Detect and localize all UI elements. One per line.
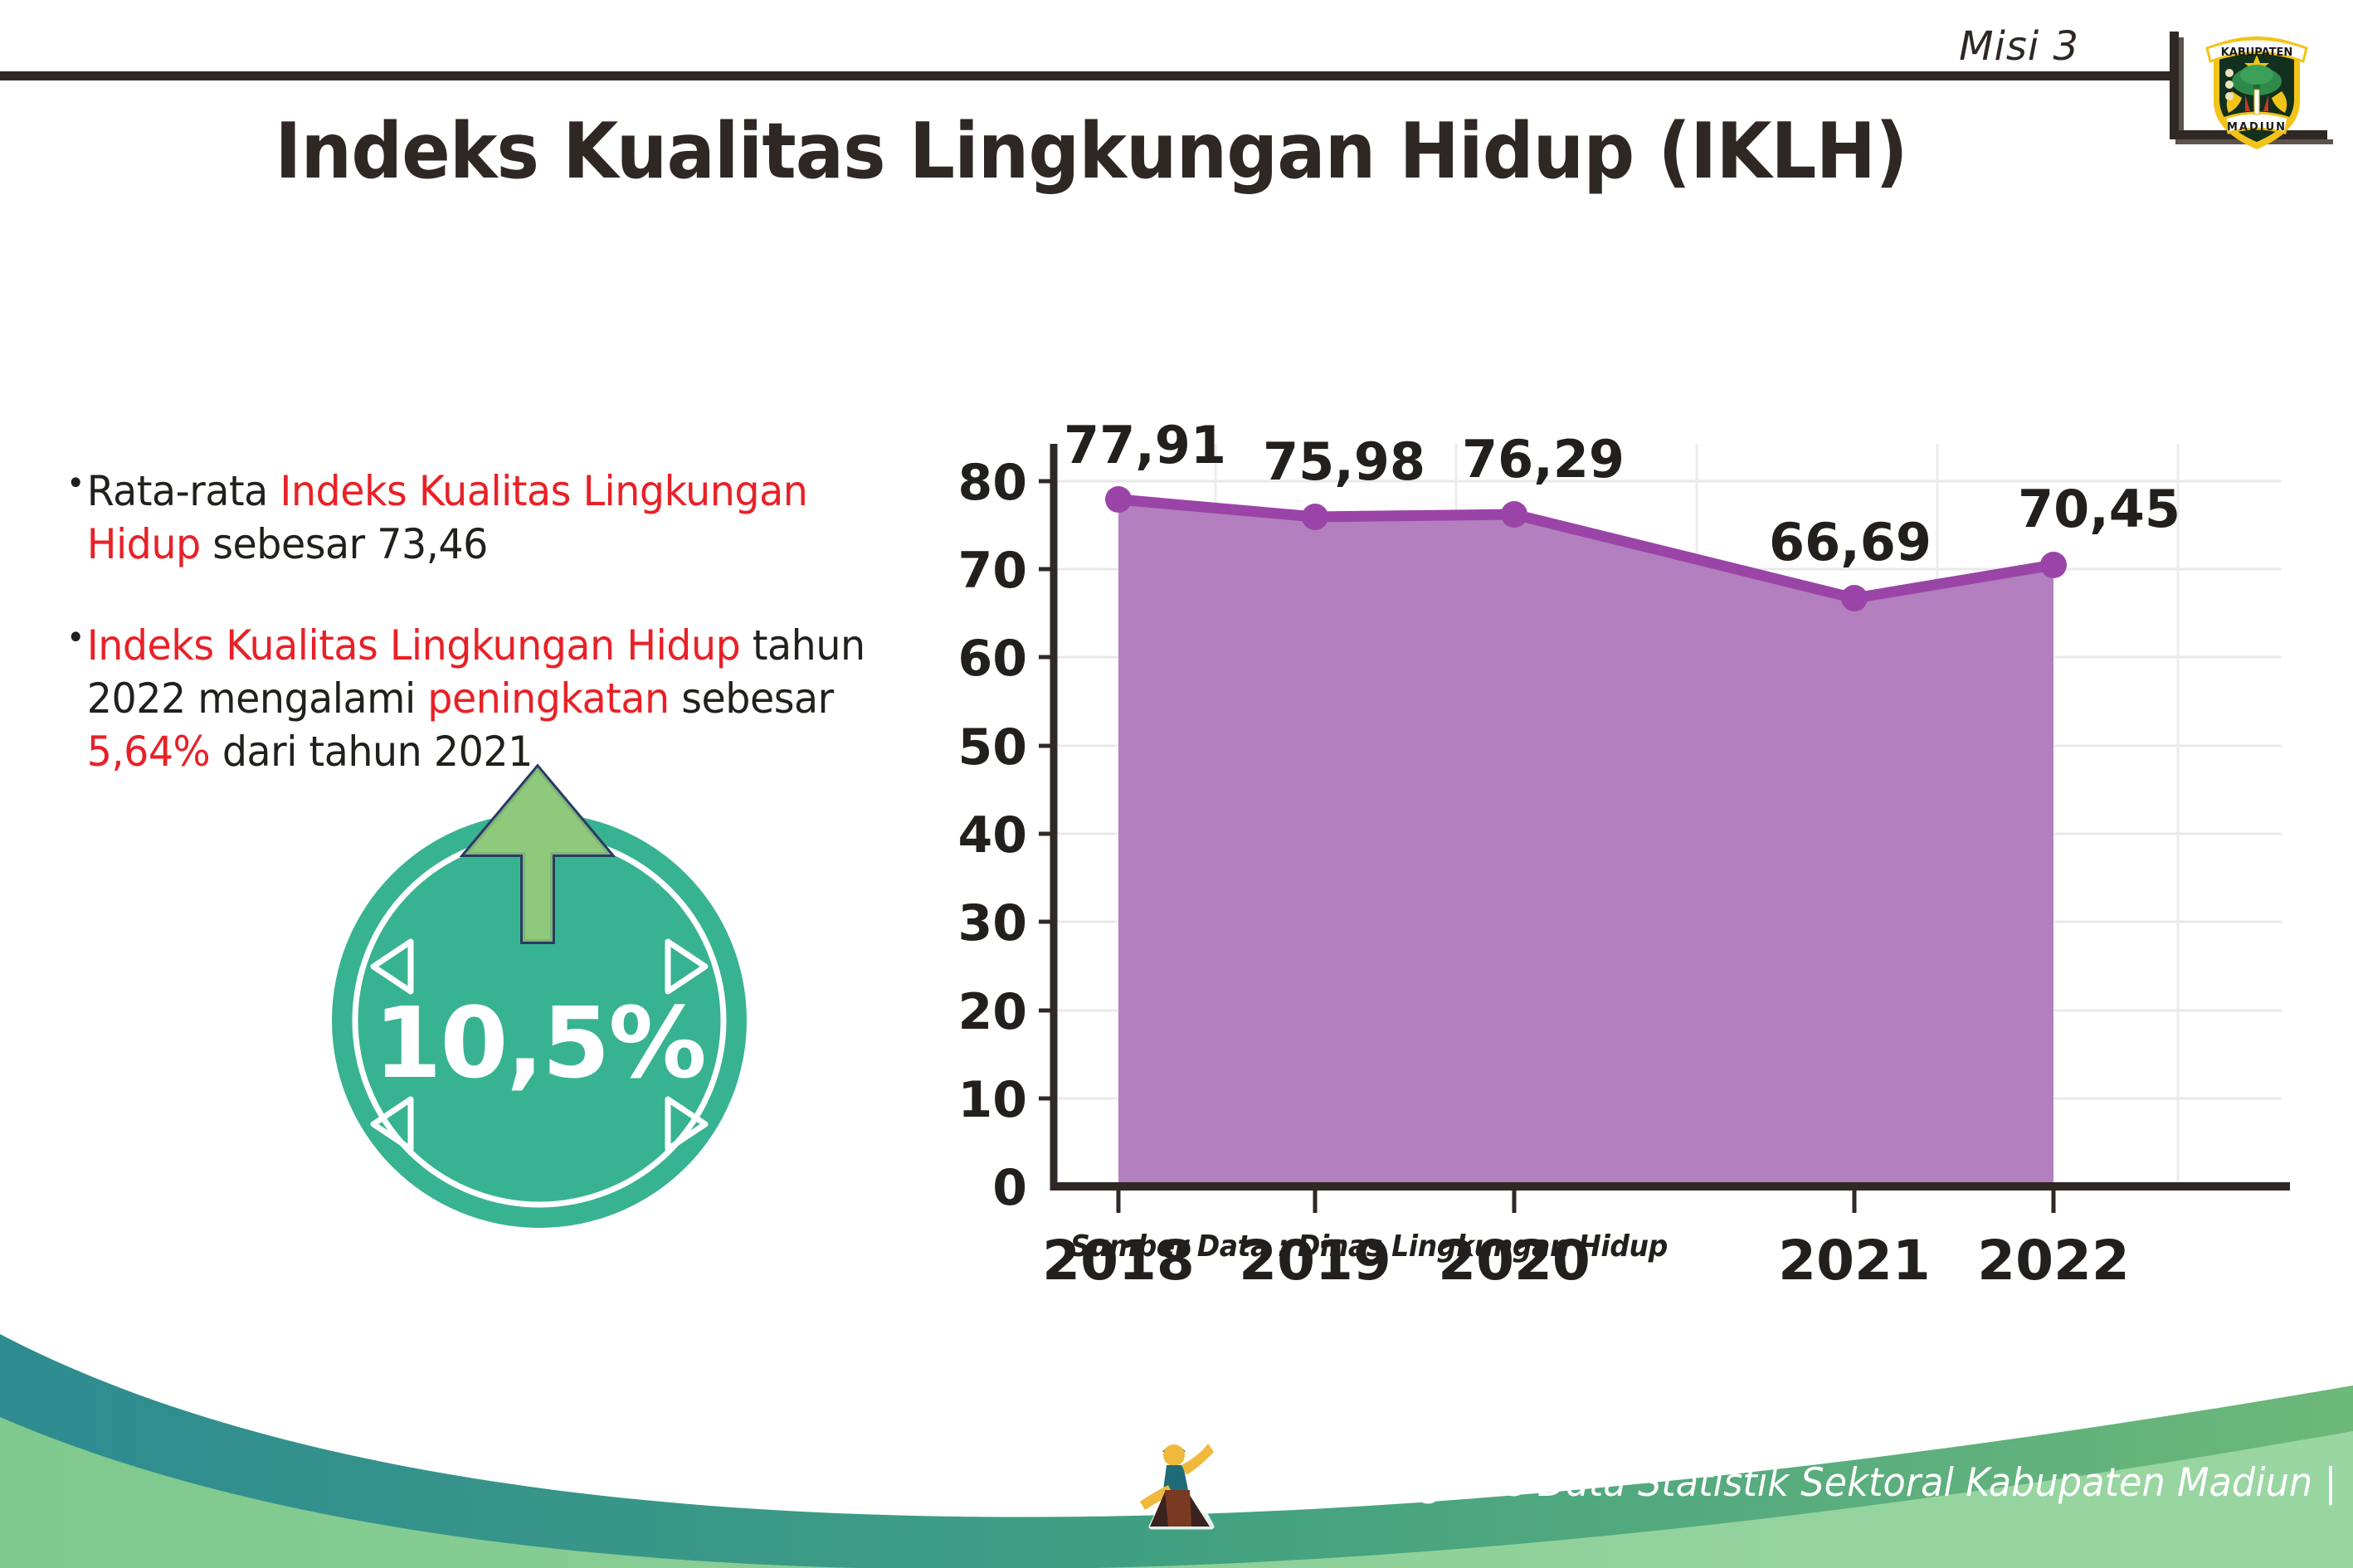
chart-marker-2019: [1302, 504, 1328, 530]
y-tick-10: 10: [958, 1071, 1028, 1129]
bracket-vertical-bar: [2170, 32, 2179, 136]
value-label-2018: 77,91: [1064, 415, 1226, 475]
insight-2-highlight-c: 5,64%: [87, 728, 211, 776]
y-tick-30: 30: [958, 894, 1028, 952]
x-tick-2022: 2022: [1977, 1229, 2130, 1293]
header-divider-rule: [0, 71, 2180, 80]
insight-item-average: Rata-rata Indeks Kualitas Lingkungan Hid…: [66, 465, 902, 571]
chart-source-note: Sumber Data : Dinas Lingkungan Hidup: [1070, 1230, 1668, 1264]
y-tick-50: 50: [958, 718, 1028, 777]
kabupaten-madiun-crest-icon: KABUPATEN MADIUN: [2199, 25, 2315, 153]
chart-canvas: 80 70 60 50 40 30 20 10 0 2018 2019 2020…: [954, 274, 2298, 1294]
crest-top-label: KABUPATEN: [2221, 46, 2293, 59]
insight-2-highlight-b: peningkatan: [427, 674, 669, 723]
insight-2-highlight-a: Indeks Kualitas Lingkungan Hidup: [87, 621, 741, 670]
value-label-2021: 66,69: [1769, 512, 1932, 572]
insight-2-text-b: sebesar: [670, 674, 834, 723]
footer-caption: Media Infografis Data Statistik Sektoral…: [1228, 1460, 2336, 1506]
insight-item-growth: Indeks Kualitas Lingkungan Hidup tahun 2…: [66, 619, 902, 778]
bracket-vertical-shadow: [2179, 37, 2184, 136]
value-label-2020: 76,29: [1462, 429, 1625, 489]
y-tick-40: 40: [958, 806, 1028, 864]
chart-marker-2020: [1501, 501, 1527, 528]
y-tick-60: 60: [958, 630, 1028, 688]
chart-marker-2021: [1841, 585, 1868, 611]
iklh-area-chart: 80 70 60 50 40 30 20 10 0 2018 2019 2020…: [954, 274, 2298, 1294]
insight-1-text-b: sebesar 73,46: [201, 520, 488, 568]
chart-marker-2018: [1105, 486, 1132, 513]
crest-bottom-label: MADIUN: [2227, 121, 2287, 134]
mission-label: Misi 3: [1959, 23, 2079, 70]
growth-badge: 10,5%: [332, 763, 747, 1228]
chart-marker-2022: [2040, 552, 2067, 578]
y-tick-20: 20: [958, 983, 1028, 1041]
value-label-2019: 75,98: [1263, 431, 1425, 492]
media-infografis-figure-icon: [1135, 1434, 1228, 1543]
infographic-slide: Misi 3 KABUPATEN MADIUN Indeks Kualitas …: [0, 0, 2353, 1568]
chart-y-tick-labels: 80 70 60 50 40 30 20 10 0: [958, 454, 1028, 1217]
value-label-2022: 70,45: [2018, 479, 2180, 539]
y-tick-80: 80: [958, 454, 1028, 512]
page-title: Indeks Kualitas Lingkungan Hidup (IKLH): [76, 106, 2106, 196]
y-tick-70: 70: [958, 542, 1028, 600]
y-tick-0: 0: [992, 1159, 1027, 1217]
growth-badge-graphic: [332, 763, 747, 1228]
insight-1-text-a: Rata-rata: [87, 467, 280, 515]
x-tick-2021: 2021: [1778, 1229, 1931, 1293]
chart-area-fill: [1118, 499, 2053, 1186]
